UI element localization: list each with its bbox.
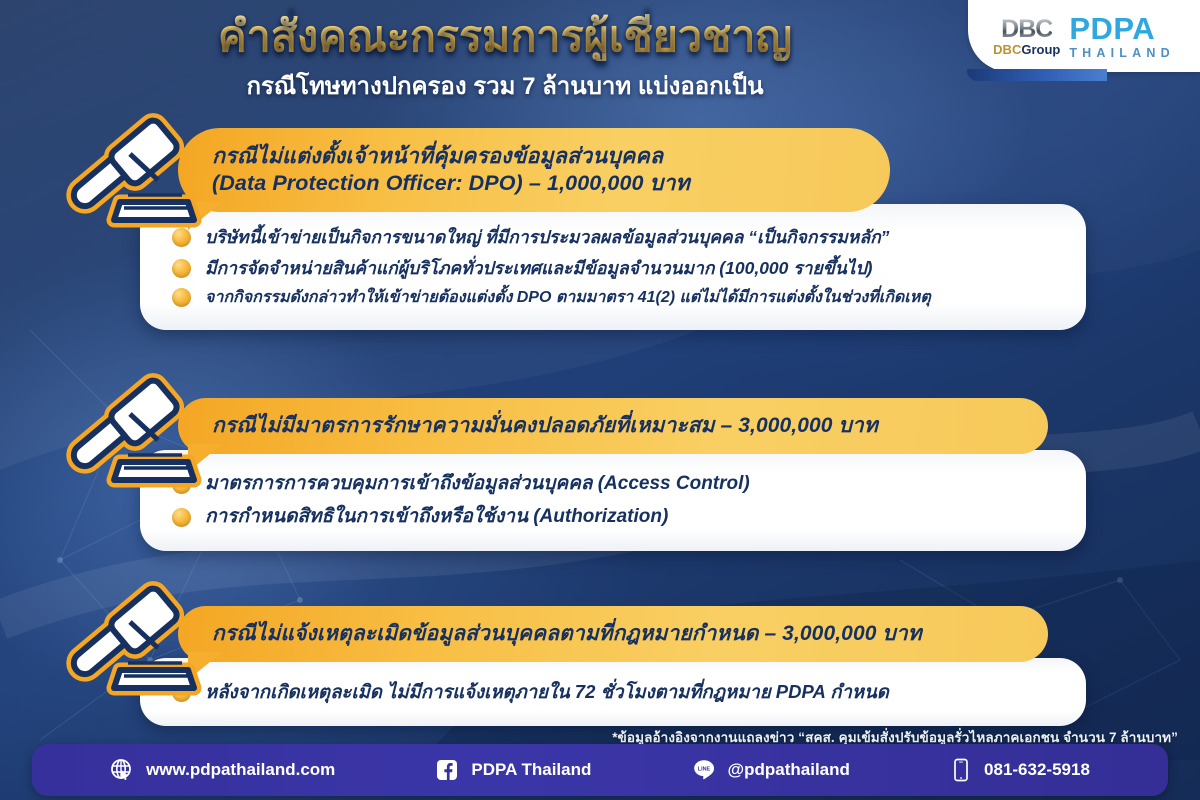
pdpa-logo: PDPA THAILAND (1069, 13, 1174, 60)
gavel-icon (58, 370, 208, 490)
dbc-mark-text: DBC (1001, 17, 1052, 42)
section-2-bullet-1: มาตรการการควบคุมการเข้าถึงข้อมูลส่วนบุคค… (205, 472, 750, 497)
bullet-dot-icon (172, 259, 191, 278)
footer-website-label: www.pdpathailand.com (146, 760, 335, 780)
dbc-sub-gold: DBC (993, 42, 1021, 57)
globe-icon (110, 758, 134, 782)
footer-facebook-label: PDPA Thailand (471, 760, 591, 780)
footer-item-line[interactable]: LINE @pdpathailand (692, 758, 850, 782)
pdpa-main-text: PDPA (1069, 13, 1174, 44)
pdpa-sub-text: THAILAND (1069, 47, 1174, 60)
dbc-logo: DBC DBCGroup (993, 17, 1060, 56)
page-subtitle: กรณีโทษทางปกครอง รวม 7 ล้านบาท แบ่งออกเป… (0, 66, 1010, 105)
footer-contact-bar: www.pdpathailand.com PDPA Thailand LINE … (32, 744, 1168, 796)
section-1-bullet-3: จากกิจกรรมดังกล่าวทำให้เข้าข่ายต้องแต่งต… (205, 288, 931, 309)
list-item: จากกิจกรรมดังกล่าวทำให้เข้าข่ายต้องแต่งต… (172, 284, 1056, 313)
section-2-band: กรณีไม่มีมาตรการรักษาความมั่นคงปลอดภัยที… (178, 398, 1048, 454)
infographic-root: DBC DBCGroup PDPA THAILAND คำสั่งคณะกรรม… (0, 0, 1200, 800)
line-icon: LINE (692, 758, 716, 782)
bullet-dot-icon (172, 228, 191, 247)
section-3-band: กรณีไม่แจ้งเหตุละเมิดข้อมูลส่วนบุคคลตามท… (178, 606, 1048, 662)
facebook-icon (435, 758, 459, 782)
list-item: การกำหนดสิทธิในการเข้าถึงหรือใช้งาน (Aut… (172, 501, 1056, 534)
section-3-band-line1: กรณีไม่แจ้งเหตุละเมิดข้อมูลส่วนบุคคลตามท… (212, 621, 922, 647)
footer-phone-label: 081-632-5918 (984, 760, 1090, 780)
list-item: หลังจากเกิดเหตุละเมิด ไม่มีการแจ้งเหตุภา… (172, 676, 1056, 708)
section-1-band-line1: กรณีไม่แต่งตั้งเจ้าหน้าที่คุ้มครองข้อมูล… (212, 143, 690, 170)
dbc-subtitle: DBCGroup (993, 43, 1060, 56)
section-1-bullet-1: บริษัทนี้เข้าข่ายเป็นกิจการขนาดใหญ่ ที่ม… (205, 226, 889, 249)
section-2-bullet-2: การกำหนดสิทธิในการเข้าถึงหรือใช้งาน (Aut… (205, 505, 668, 530)
gavel-icon (58, 578, 208, 698)
page-title: คำสั่งคณะกรรมการผู้เชี่ยวชาญ (0, 14, 1010, 61)
list-item: มีการจัดจำหน่ายสินค้าแก่ผู้บริโภคทั่วประ… (172, 253, 1056, 284)
list-item: มาตรการการควบคุมการเข้าถึงข้อมูลส่วนบุคค… (172, 468, 1056, 501)
brand-logo-badge: DBC DBCGroup PDPA THAILAND (968, 0, 1200, 72)
section-1-bullet-2: มีการจัดจำหน่ายสินค้าแก่ผู้บริโภคทั่วประ… (205, 257, 872, 280)
section-3-card: หลังจากเกิดเหตุละเมิด ไม่มีการแจ้งเหตุภา… (140, 658, 1086, 726)
footer-item-phone[interactable]: 081-632-5918 (950, 758, 1090, 782)
list-item: บริษัทนี้เข้าข่ายเป็นกิจการขนาดใหญ่ ที่ม… (172, 222, 1056, 253)
footer-item-facebook[interactable]: PDPA Thailand (435, 758, 591, 782)
bullet-dot-icon (172, 288, 191, 307)
footer-line-label: @pdpathailand (728, 760, 850, 780)
section-1-card: บริษัทนี้เข้าข่ายเป็นกิจการขนาดใหญ่ ที่ม… (140, 204, 1086, 330)
gavel-icon (58, 110, 208, 230)
section-3-bullet-1: หลังจากเกิดเหตุละเมิด ไม่มีการแจ้งเหตุภา… (205, 680, 889, 704)
dbc-sub-navy: Group (1021, 42, 1060, 57)
section-1-band-line2: (Data Protection Officer: DPO) – 1,000,0… (212, 170, 690, 197)
section-2-card: มาตรการการควบคุมการเข้าถึงข้อมูลส่วนบุคค… (140, 450, 1086, 551)
svg-text:LINE: LINE (697, 766, 710, 772)
bullet-dot-icon (172, 508, 191, 527)
section-1-band: กรณีไม่แต่งตั้งเจ้าหน้าที่คุ้มครองข้อมูล… (178, 128, 890, 212)
phone-icon (950, 758, 972, 782)
header-block: คำสั่งคณะกรรมการผู้เชี่ยวชาญ กรณีโทษทางป… (0, 14, 1010, 105)
footer-item-website[interactable]: www.pdpathailand.com (110, 758, 335, 782)
section-2-band-line1: กรณีไม่มีมาตรการรักษาความมั่นคงปลอดภัยที… (212, 413, 878, 439)
